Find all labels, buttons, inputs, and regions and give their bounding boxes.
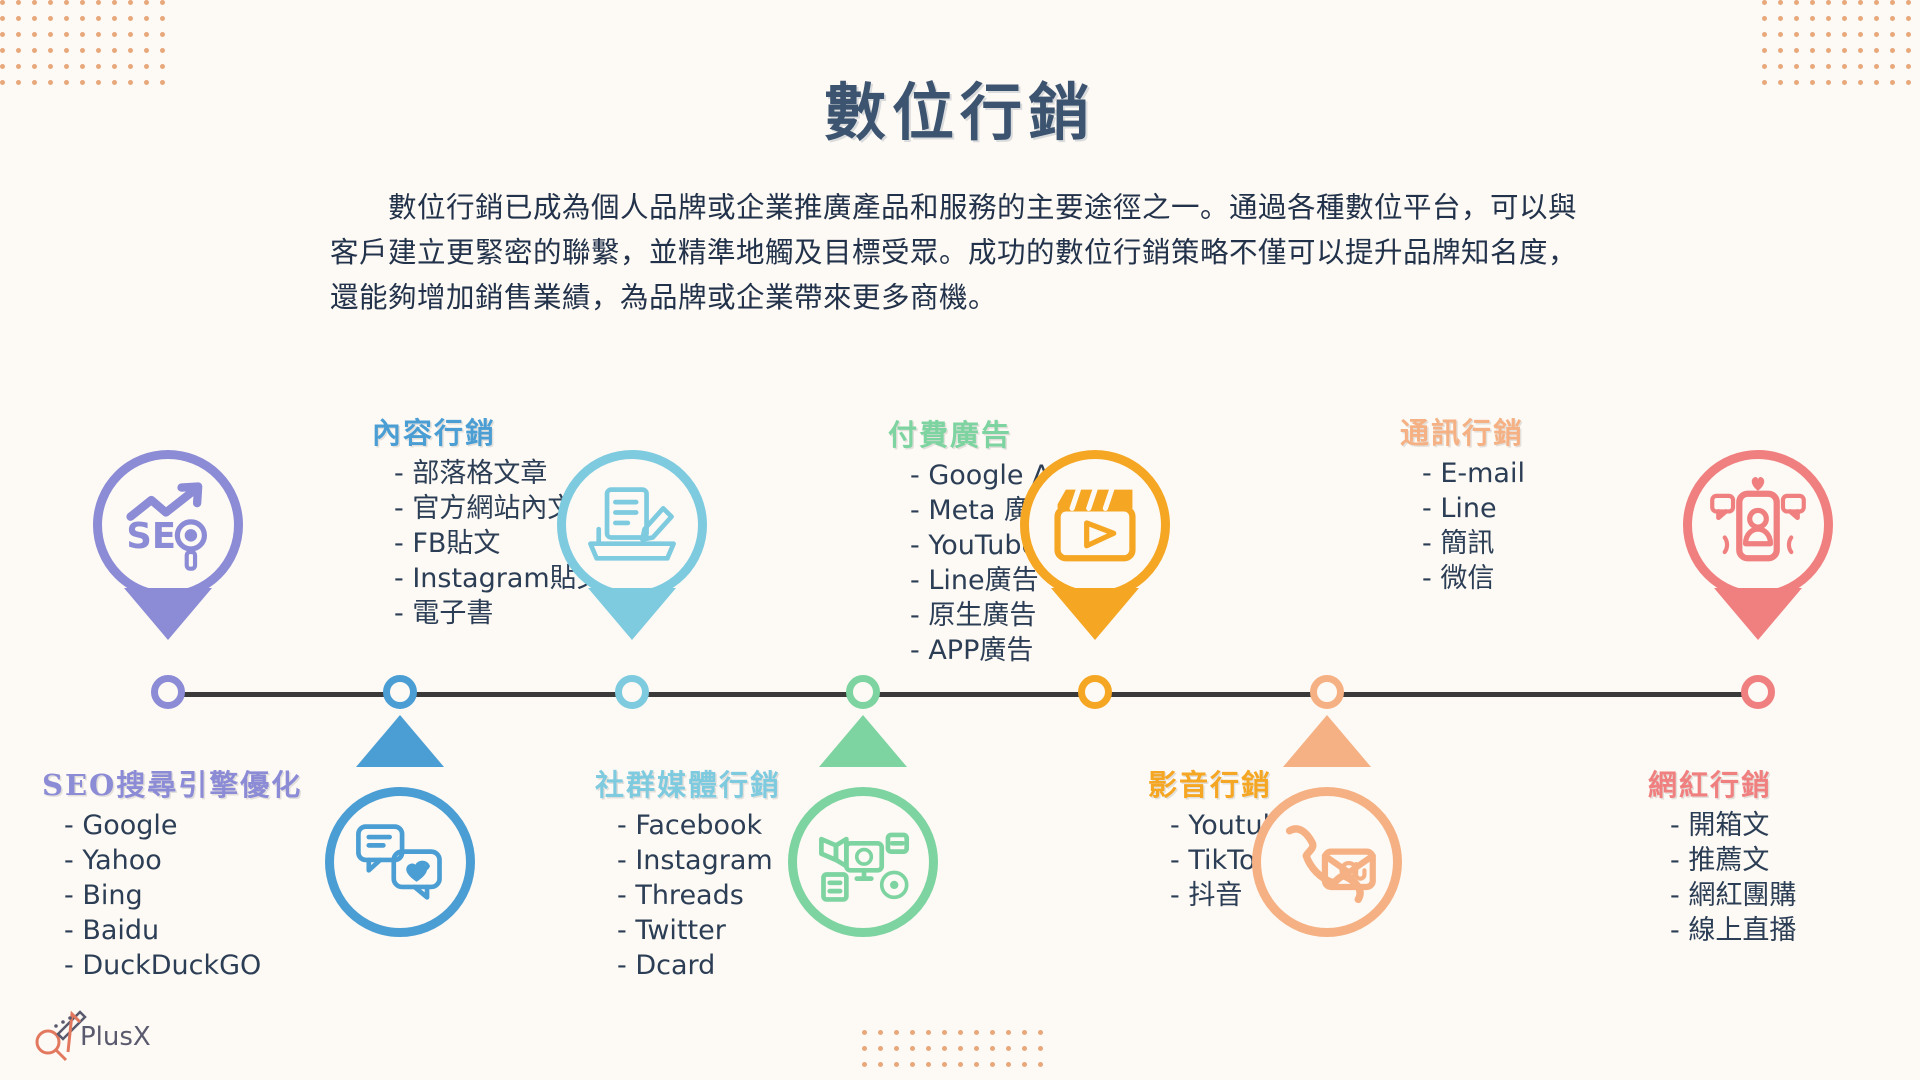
- phone-envelope-at-icon: [1275, 810, 1379, 914]
- list-item: 電子書: [394, 596, 604, 631]
- list-item: Dcard: [617, 948, 781, 983]
- list-item: 開箱文: [1670, 808, 1796, 843]
- drop-shape-paid-ads: [788, 787, 938, 937]
- logo-text: PlusX: [80, 1022, 151, 1052]
- svg-text:SE: SE: [126, 516, 176, 557]
- timeline-node-dot-seo[interactable]: [151, 675, 185, 709]
- marker-messaging[interactable]: [1252, 735, 1402, 937]
- ad-megaphone-screen-icon: [811, 810, 915, 914]
- timeline-node-dot-video[interactable]: [1078, 675, 1112, 709]
- marker-social[interactable]: [557, 450, 707, 600]
- list-item: Google: [64, 808, 302, 843]
- clapperboard-play-icon: [1043, 473, 1147, 577]
- category-title-content: 內容行銷: [372, 410, 604, 452]
- list-item: DuckDuckGO: [64, 948, 302, 983]
- category-block-social: 社群媒體行銷FacebookInstagramThreadsTwitterDca…: [595, 762, 781, 983]
- list-item: Baidu: [64, 913, 302, 948]
- laptop-pen-document-icon: [580, 473, 684, 577]
- list-item: Bing: [64, 878, 302, 913]
- timeline-node-dot-paid-ads[interactable]: [846, 675, 880, 709]
- page-title: 數位行銷: [0, 62, 1920, 152]
- list-item: Threads: [617, 878, 781, 913]
- timeline-node-dot-content[interactable]: [383, 675, 417, 709]
- marker-content[interactable]: [325, 735, 475, 937]
- list-item: 微信: [1422, 561, 1525, 596]
- category-title-messaging: 通訊行銷: [1400, 410, 1525, 452]
- category-list-messaging: E-mailLine簡訊微信: [1400, 456, 1525, 596]
- marker-influencer[interactable]: [1683, 450, 1833, 600]
- pin-shape-seo: SE: [93, 450, 243, 600]
- chat-bubbles-heart-icon: [348, 810, 452, 914]
- category-title-seo: SEO搜尋引擎優化: [42, 762, 302, 804]
- category-list-social: FacebookInstagramThreadsTwitterDcard: [595, 808, 781, 983]
- category-block-messaging: 通訊行銷E-mailLine簡訊微信: [1400, 410, 1525, 596]
- pin-shape-video: [1020, 450, 1170, 600]
- list-item: Instagram: [617, 843, 781, 878]
- list-item: 簡訊: [1422, 526, 1525, 561]
- marker-seo[interactable]: SE: [93, 450, 243, 600]
- list-item: Yahoo: [64, 843, 302, 878]
- timeline-node-dot-messaging[interactable]: [1310, 675, 1344, 709]
- marker-video[interactable]: [1020, 450, 1170, 600]
- drop-shape-messaging: [1252, 787, 1402, 937]
- timeline-node-dot-influencer[interactable]: [1741, 675, 1775, 709]
- category-title-influencer: 網紅行銷: [1648, 762, 1796, 804]
- pin-shape-social: [557, 450, 707, 600]
- seo-trend-magnifier-icon: SE: [116, 473, 220, 577]
- list-item: 推薦文: [1670, 843, 1796, 878]
- category-title-paid-ads: 付費廣告: [888, 412, 1146, 454]
- category-list-seo: GoogleYahooBingBaiduDuckDuckGO: [42, 808, 302, 983]
- list-item: 網紅團購: [1670, 878, 1796, 913]
- list-item: Facebook: [617, 808, 781, 843]
- category-block-seo: SEO搜尋引擎優化GoogleYahooBingBaiduDuckDuckGO: [42, 762, 302, 983]
- category-list-influencer: 開箱文推薦文網紅團購線上直播: [1648, 808, 1796, 948]
- category-title-social: 社群媒體行銷: [595, 762, 781, 804]
- list-item: E-mail: [1422, 456, 1525, 491]
- plusx-logo: PlusX: [28, 1000, 178, 1062]
- drop-shape-content: [325, 787, 475, 937]
- pin-shape-influencer: [1683, 450, 1833, 600]
- category-block-influencer: 網紅行銷開箱文推薦文網紅團購線上直播: [1648, 762, 1796, 948]
- list-item: Twitter: [617, 913, 781, 948]
- list-item: Line: [1422, 491, 1525, 526]
- marker-paid-ads[interactable]: [788, 735, 938, 937]
- list-item: 線上直播: [1670, 913, 1796, 948]
- timeline-node-dot-social[interactable]: [615, 675, 649, 709]
- phone-person-hearts-icon: [1706, 473, 1810, 577]
- intro-paragraph: 數位行銷已成為個人品牌或企業推廣產品和服務的主要途徑之一。通過各種數位平台，可以…: [330, 185, 1600, 320]
